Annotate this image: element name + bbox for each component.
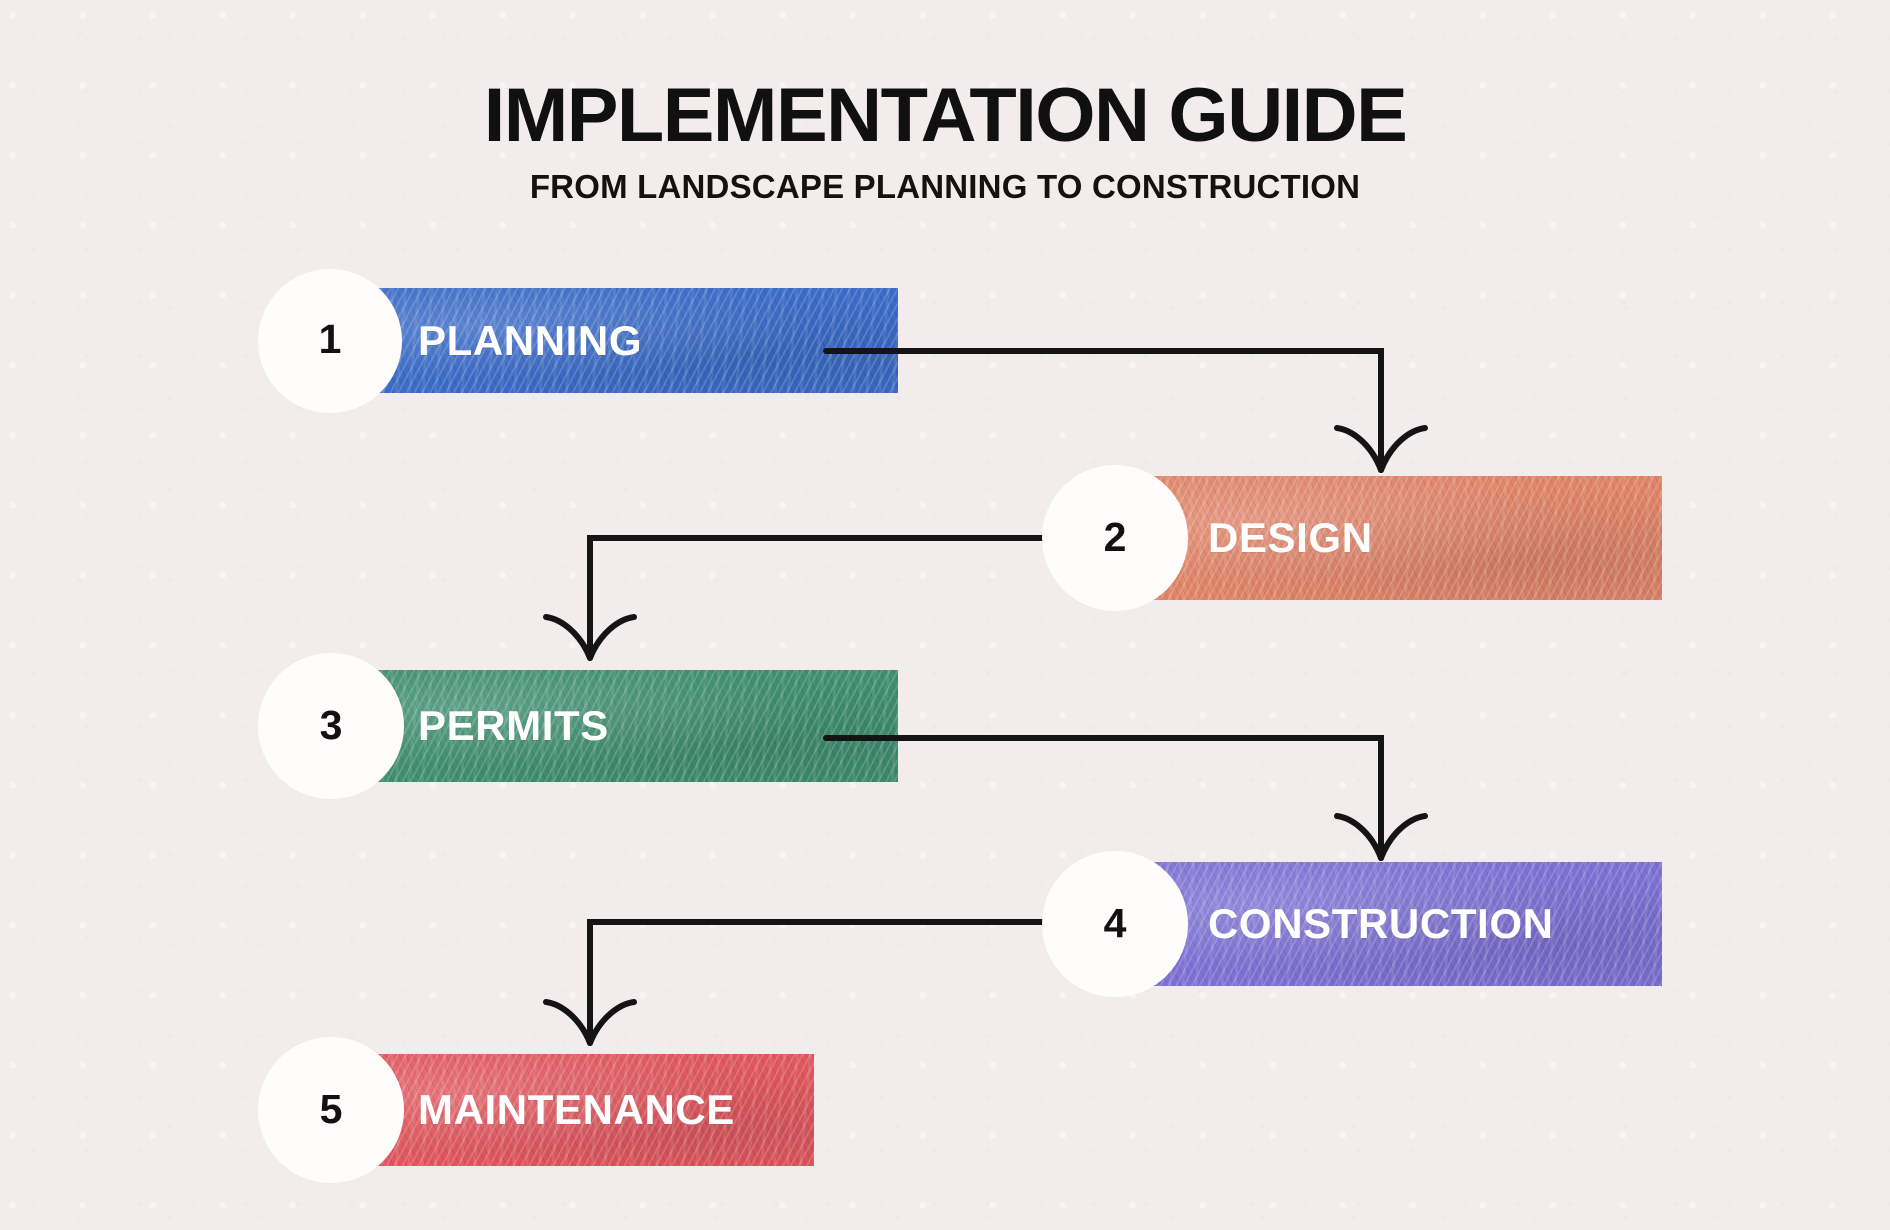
connector-3-to-4 — [826, 738, 1425, 858]
arrowhead-left-wing — [1337, 428, 1381, 470]
arrowhead-left-wing — [1337, 816, 1381, 858]
step-label-5: MAINTENANCE — [418, 1086, 735, 1134]
step-label-1: PLANNING — [418, 317, 642, 365]
step-number-badge-5[interactable]: 5 — [258, 1037, 404, 1183]
step-number-badge-3[interactable]: 3 — [258, 653, 404, 799]
step-bar-3 — [326, 670, 898, 782]
step-number-2: 2 — [1104, 517, 1127, 558]
page-subtitle: FROM LANDSCAPE PLANNING TO CONSTRUCTION — [0, 168, 1890, 206]
arrowhead-right-wing — [1381, 428, 1425, 470]
step-label-2: DESIGN — [1208, 514, 1373, 562]
connector-2-to-3 — [546, 538, 1042, 658]
step-row-1[interactable]: 1 PLANNING — [258, 288, 898, 393]
header: IMPLEMENTATION GUIDE FROM LANDSCAPE PLAN… — [0, 78, 1890, 206]
connector-1-to-2 — [826, 351, 1425, 470]
step-label-4: CONSTRUCTION — [1208, 900, 1554, 948]
step-row-2[interactable]: 2 DESIGN — [1042, 476, 1662, 600]
arrowhead-left-wing — [546, 617, 590, 658]
arrowhead-left-wing — [546, 1002, 590, 1043]
step-number-3: 3 — [320, 705, 343, 746]
bar-texture-3 — [326, 670, 898, 782]
step-number-badge-2[interactable]: 2 — [1042, 465, 1188, 611]
step-number-badge-4[interactable]: 4 — [1042, 851, 1188, 997]
arrowhead-right-wing — [590, 617, 634, 658]
step-number-badge-1[interactable]: 1 — [258, 269, 402, 413]
step-number-4: 4 — [1104, 903, 1127, 944]
step-row-3[interactable]: 3 PERMITS — [258, 670, 898, 782]
infographic-canvas: IMPLEMENTATION GUIDE FROM LANDSCAPE PLAN… — [0, 0, 1890, 1230]
step-bar-2 — [1114, 476, 1662, 600]
connector-4-to-5 — [546, 922, 1042, 1043]
arrowhead-right-wing — [590, 1002, 634, 1043]
step-number-5: 5 — [320, 1089, 343, 1130]
bar-texture-2 — [1114, 476, 1662, 600]
step-number-1: 1 — [319, 319, 342, 360]
step-label-3: PERMITS — [418, 702, 609, 750]
step-row-5[interactable]: 5 MAINTENANCE — [258, 1054, 814, 1166]
step-row-4[interactable]: 4 CONSTRUCTION — [1042, 862, 1662, 986]
page-title: IMPLEMENTATION GUIDE — [0, 78, 1890, 154]
arrowhead-right-wing — [1381, 816, 1425, 858]
